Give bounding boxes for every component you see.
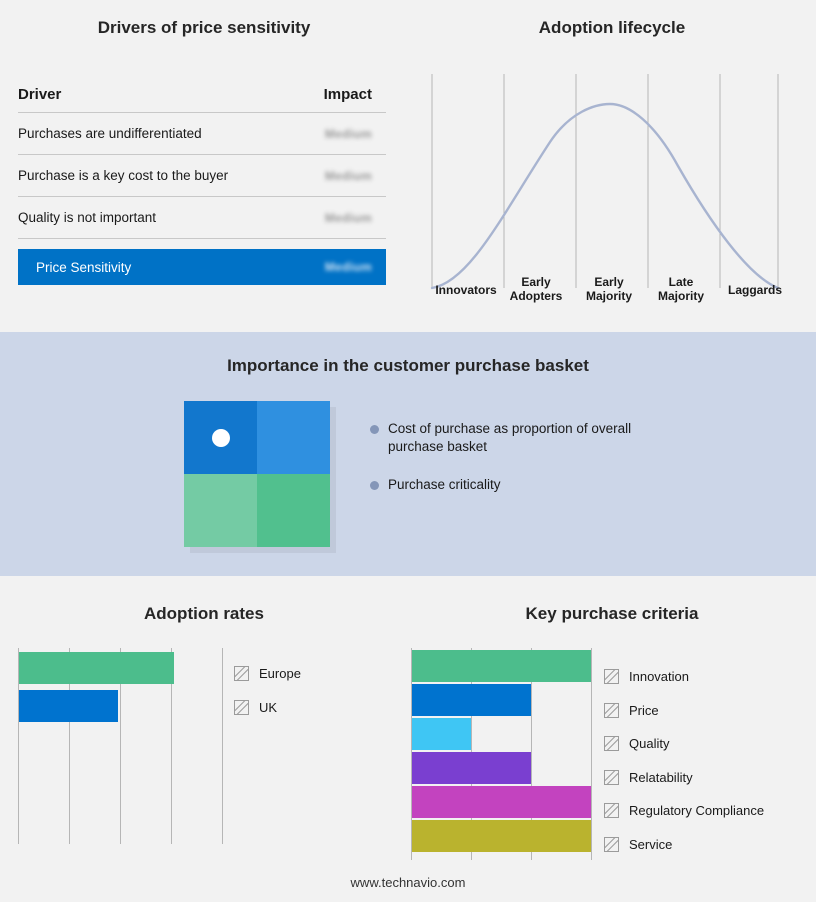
legend-label: Relatability	[629, 770, 693, 785]
pattern-swatch-icon	[604, 669, 619, 684]
pattern-swatch-icon	[604, 803, 619, 818]
impact-value: Medium	[325, 169, 386, 183]
legend-label: UK	[259, 700, 277, 715]
panel-title-basket: Importance in the customer purchase bask…	[0, 332, 816, 376]
basket-legend: Cost of purchase as proportion of overal…	[370, 420, 670, 515]
pattern-swatch-icon	[234, 666, 249, 681]
legend-item-innovation: Innovation	[604, 660, 764, 694]
quadrant-top-right	[257, 401, 330, 474]
pattern-swatch-icon	[604, 703, 619, 718]
price-sensitivity-impact: Medium	[325, 260, 386, 274]
column-header-driver: Driver	[18, 86, 61, 103]
table-row: Purchase is a key cost to the buyer Medi…	[18, 155, 386, 197]
quadrant-matrix	[184, 401, 330, 547]
impact-value: Medium	[325, 211, 386, 225]
bar-regulatory-compliance	[412, 786, 591, 818]
legend-label: Quality	[629, 736, 669, 751]
criteria-legend: Innovation Price Quality Relatability Re…	[604, 660, 764, 861]
drivers-table: Driver Impact Purchases are undifferenti…	[18, 86, 386, 285]
key-purchase-criteria-chart	[411, 648, 591, 860]
panel-title-drivers: Drivers of price sensitivity	[0, 18, 408, 38]
lifecycle-label-laggards: Laggards	[718, 284, 792, 298]
driver-label: Purchases are undifferentiated	[18, 126, 202, 141]
panel-adoption-rates: Adoption rates Europe UK	[0, 576, 408, 902]
legend-label: Service	[629, 837, 672, 852]
legend-label: Price	[629, 703, 659, 718]
bar-price	[412, 684, 531, 716]
table-row: Quality is not important Medium	[18, 197, 386, 239]
panel-key-purchase-criteria: Key purchase criteria Innovation Price Q…	[408, 576, 816, 902]
quadrant-bottom-right	[257, 474, 330, 547]
legend-item-uk: UK	[234, 700, 301, 715]
adoption-rates-chart	[18, 648, 222, 844]
impact-value: Medium	[325, 127, 386, 141]
panel-adoption-lifecycle: Adoption lifecycle Innovators Early Adop…	[408, 0, 816, 332]
footer-source: www.technavio.com	[0, 875, 816, 890]
lifecycle-label-early-adopters: Early Adopters	[502, 276, 570, 304]
gridline	[591, 648, 592, 860]
legend-label: Cost of purchase as proportion of overal…	[388, 420, 646, 456]
legend-label: Purchase criticality	[388, 476, 501, 494]
quadrant-bottom-left	[184, 474, 257, 547]
legend-item-regulatory-compliance: Regulatory Compliance	[604, 794, 764, 828]
panel-drivers-of-price-sensitivity: Drivers of price sensitivity Driver Impa…	[0, 0, 408, 332]
bar-relatability	[412, 752, 531, 784]
table-row: Purchases are undifferentiated Medium	[18, 113, 386, 155]
bullet-icon	[370, 481, 379, 490]
bar-innovation	[412, 650, 591, 682]
price-sensitivity-summary-row: Price Sensitivity Medium	[18, 249, 386, 285]
quadrant-top-left	[184, 401, 257, 474]
legend-item-quality: Quality	[604, 727, 764, 761]
legend-item-service: Service	[604, 828, 764, 862]
bar-service	[412, 820, 591, 852]
pattern-swatch-icon	[604, 770, 619, 785]
pattern-swatch-icon	[234, 700, 249, 715]
lifecycle-label-early-majority: Early Majority	[576, 276, 642, 304]
driver-label: Quality is not important	[18, 210, 156, 225]
drivers-table-header: Driver Impact	[18, 86, 386, 113]
legend-label: Europe	[259, 666, 301, 681]
bar-uk	[19, 690, 118, 722]
bar-europe	[19, 652, 174, 684]
panel-title-criteria: Key purchase criteria	[408, 604, 816, 624]
legend-label: Innovation	[629, 669, 689, 684]
list-item: Cost of purchase as proportion of overal…	[370, 420, 670, 456]
legend-item-relatability: Relatability	[604, 761, 764, 795]
legend-item-price: Price	[604, 694, 764, 728]
gridline	[222, 648, 223, 844]
pattern-swatch-icon	[604, 736, 619, 751]
column-header-impact: Impact	[324, 86, 386, 103]
list-item: Purchase criticality	[370, 476, 670, 494]
panel-title-lifecycle: Adoption lifecycle	[408, 18, 816, 38]
price-sensitivity-label: Price Sensitivity	[36, 260, 131, 275]
legend-item-europe: Europe	[234, 666, 301, 681]
bullet-icon	[370, 425, 379, 434]
position-marker-dot	[212, 429, 230, 447]
lifecycle-chart: Innovators Early Adopters Early Majority…	[430, 62, 802, 312]
adoption-legend: Europe UK	[234, 666, 301, 715]
driver-label: Purchase is a key cost to the buyer	[18, 168, 228, 183]
panel-purchase-basket: Importance in the customer purchase bask…	[0, 332, 816, 576]
lifecycle-label-late-majority: Late Majority	[648, 276, 714, 304]
legend-label: Regulatory Compliance	[629, 803, 764, 818]
bar-quality	[412, 718, 471, 750]
panel-title-adoption: Adoption rates	[0, 604, 408, 624]
pattern-swatch-icon	[604, 837, 619, 852]
lifecycle-label-innovators: Innovators	[424, 284, 508, 298]
